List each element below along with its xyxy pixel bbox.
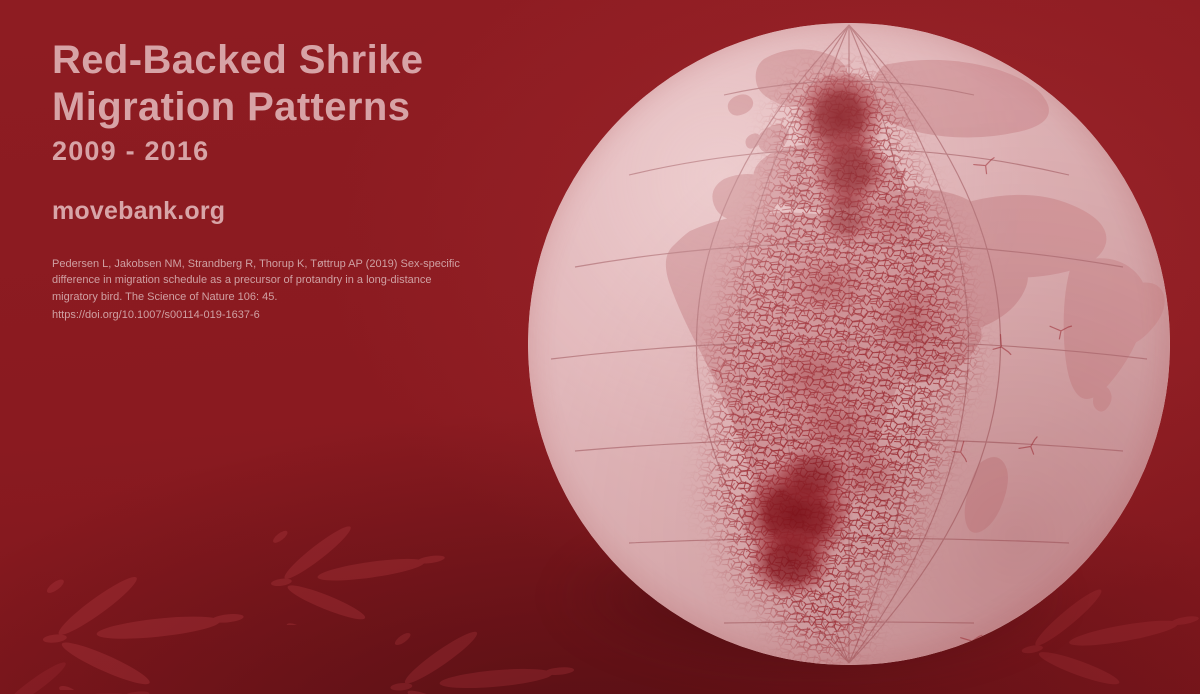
citation-line-3: migratory bird. The Science of Nature 10… [52, 289, 470, 306]
bird-track-icon [40, 560, 270, 690]
globe-sphere[interactable] [528, 23, 1170, 665]
migration-tracks [528, 23, 1170, 665]
globe-visualization[interactable] [528, 23, 1170, 665]
poster-canvas: Red-Backed Shrike Migration Patterns 200… [0, 0, 1200, 694]
bird-track-icon [268, 510, 468, 625]
citation-line-2: difference in migration schedule as a pr… [52, 272, 470, 289]
citation-line-1: Pedersen L, Jakobsen NM, Strandberg R, T… [52, 256, 470, 273]
citation-doi-link[interactable]: https://doi.org/10.1007/s00114-019-1637-… [52, 307, 470, 324]
bird-track-icon [0, 648, 170, 694]
citation-block: Pedersen L, Jakobsen NM, Strandberg R, T… [52, 256, 470, 324]
website-label[interactable]: movebank.org [52, 197, 522, 226]
year-range-label: 2009 - 2016 [52, 136, 522, 167]
text-block: Red-Backed Shrike Migration Patterns 200… [52, 38, 522, 323]
page-title-line-2: Migration Patterns [52, 85, 522, 130]
page-title-line-1: Red-Backed Shrike [52, 38, 522, 83]
